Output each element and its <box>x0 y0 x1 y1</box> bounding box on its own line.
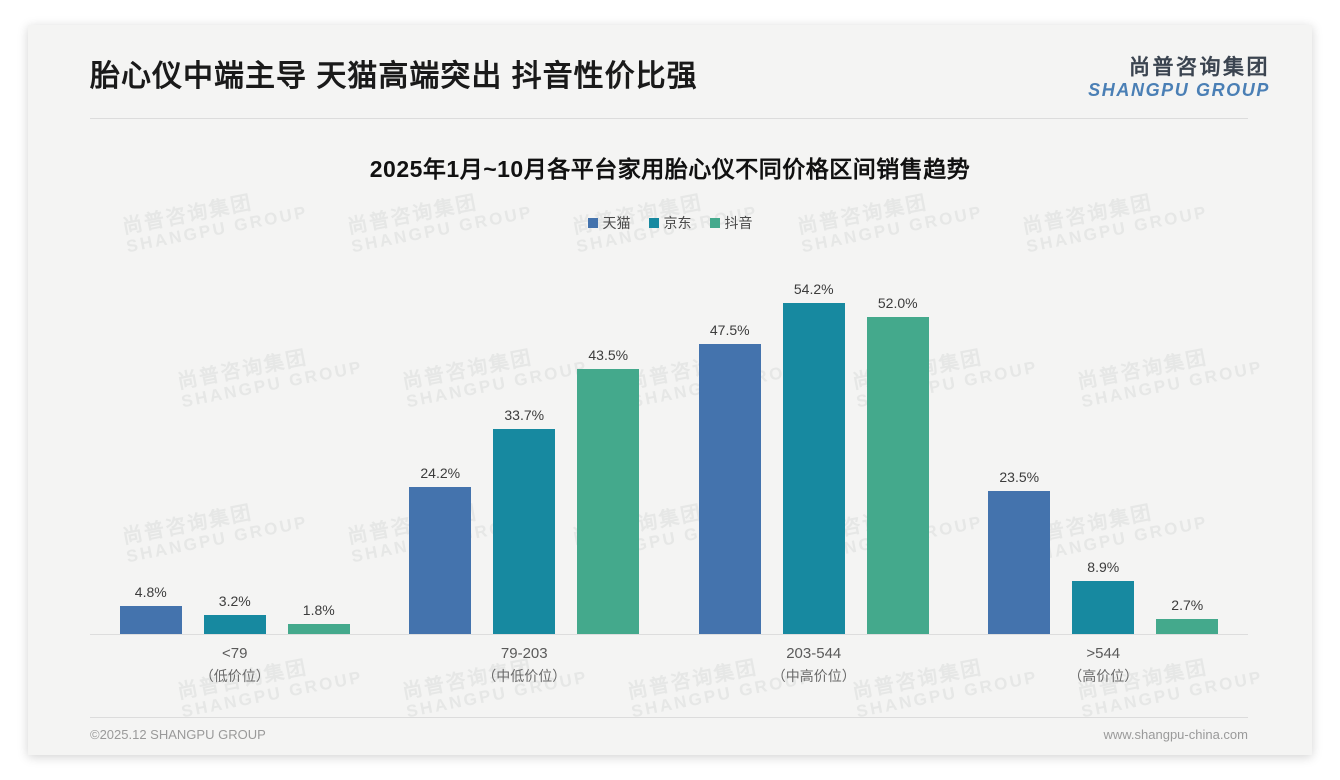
bar[interactable] <box>988 491 1050 635</box>
bar[interactable] <box>577 369 639 635</box>
bar-value-label: 33.7% <box>504 407 544 423</box>
bar[interactable] <box>493 429 555 635</box>
legend-label: 天猫 <box>603 213 631 233</box>
bar-groups: 4.8%3.2%1.8%24.2%33.7%43.5%47.5%54.2%52.… <box>90 240 1248 635</box>
x-axis-label: <79（低价位） <box>90 643 380 687</box>
slide-page: 尚普咨询集团SHANGPU GROUP尚普咨询集团SHANGPU GROUP尚普… <box>28 25 1312 755</box>
legend-label: 京东 <box>664 213 692 233</box>
bar-group: 4.8%3.2%1.8% <box>90 240 380 635</box>
brand-name-en: SHANGPU GROUP <box>1088 80 1270 101</box>
bar-column: 43.5% <box>577 240 639 635</box>
bar[interactable] <box>1156 619 1218 636</box>
bar-value-label: 3.2% <box>219 593 251 609</box>
bar-value-label: 23.5% <box>999 469 1039 485</box>
bar-column: 54.2% <box>783 240 845 635</box>
legend-swatch-icon <box>588 218 598 228</box>
bar-group: 47.5%54.2%52.0% <box>669 240 959 635</box>
bar-column: 52.0% <box>867 240 929 635</box>
bar-value-label: 1.8% <box>303 602 335 618</box>
x-axis-label-tier: （低价位） <box>90 666 380 687</box>
bar-column: 24.2% <box>409 240 471 635</box>
bar-column: 4.8% <box>120 240 182 635</box>
x-axis-labels: <79（低价位）79-203（中低价位）203-544（中高价位）>544（高价… <box>90 643 1248 687</box>
bar[interactable] <box>699 344 761 635</box>
legend-item-3[interactable]: 抖音 <box>710 213 753 233</box>
bar-column: 3.2% <box>204 240 266 635</box>
bar[interactable] <box>867 317 929 635</box>
bar-column: 8.9% <box>1072 240 1134 635</box>
x-axis-label-tier: （中高价位） <box>669 666 959 687</box>
bar[interactable] <box>783 303 845 635</box>
bar-column: 2.7% <box>1156 240 1218 635</box>
x-axis-label-range: <79 <box>222 645 247 662</box>
slide-footer: ©2025.12 SHANGPU GROUP www.shangpu-china… <box>90 727 1248 742</box>
x-axis-label: 79-203（中低价位） <box>380 643 670 687</box>
brand-name-cn: 尚普咨询集团 <box>1088 56 1270 80</box>
chart-plot-area: 4.8%3.2%1.8%24.2%33.7%43.5%47.5%54.2%52.… <box>90 240 1248 635</box>
bar[interactable] <box>204 615 266 635</box>
legend-label: 抖音 <box>725 213 753 233</box>
bar-value-label: 54.2% <box>794 281 834 297</box>
bar[interactable] <box>1072 581 1134 635</box>
legend-item-1[interactable]: 天猫 <box>588 213 631 233</box>
bar-column: 33.7% <box>493 240 555 635</box>
bar[interactable] <box>409 487 471 635</box>
bar-value-label: 24.2% <box>420 465 460 481</box>
brand-logo: 尚普咨询集团 SHANGPU GROUP <box>1088 56 1270 101</box>
header-divider <box>90 118 1248 119</box>
website-text: www.shangpu-china.com <box>1103 727 1248 742</box>
bar-value-label: 47.5% <box>710 322 750 338</box>
x-axis-label: 203-544（中高价位） <box>669 643 959 687</box>
x-axis-label-range: >544 <box>1086 645 1120 662</box>
chart-title: 2025年1月~10月各平台家用胎心仪不同价格区间销售趋势 <box>28 150 1312 184</box>
legend-swatch-icon <box>649 218 659 228</box>
footer-divider <box>90 717 1248 718</box>
bar-column: 1.8% <box>288 240 350 635</box>
bar[interactable] <box>120 606 182 635</box>
bar-column: 23.5% <box>988 240 1050 635</box>
bar-column: 47.5% <box>699 240 761 635</box>
x-axis-label: >544（高价位） <box>959 643 1249 687</box>
bar-value-label: 52.0% <box>878 295 918 311</box>
bar-value-label: 8.9% <box>1087 559 1119 575</box>
x-axis-label-tier: （中低价位） <box>380 666 670 687</box>
legend-item-2[interactable]: 京东 <box>649 213 692 233</box>
slide-header: 胎心仪中端主导 天猫高端突出 抖音性价比强 尚普咨询集团 SHANGPU GRO… <box>28 25 1312 118</box>
chart-legend: 天猫京东抖音 <box>28 213 1312 233</box>
page-title: 胎心仪中端主导 天猫高端突出 抖音性价比强 <box>90 51 698 95</box>
bar-group: 24.2%33.7%43.5% <box>380 240 670 635</box>
x-axis-label-range: 79-203 <box>501 645 548 662</box>
bar-value-label: 2.7% <box>1171 597 1203 613</box>
bar-value-label: 43.5% <box>588 347 628 363</box>
legend-swatch-icon <box>710 218 720 228</box>
bar-value-label: 4.8% <box>135 584 167 600</box>
x-axis-label-range: 203-544 <box>786 645 841 662</box>
copyright-text: ©2025.12 SHANGPU GROUP <box>90 727 266 742</box>
x-axis-line <box>90 634 1248 635</box>
x-axis-label-tier: （高价位） <box>959 666 1249 687</box>
bar-group: 23.5%8.9%2.7% <box>959 240 1249 635</box>
